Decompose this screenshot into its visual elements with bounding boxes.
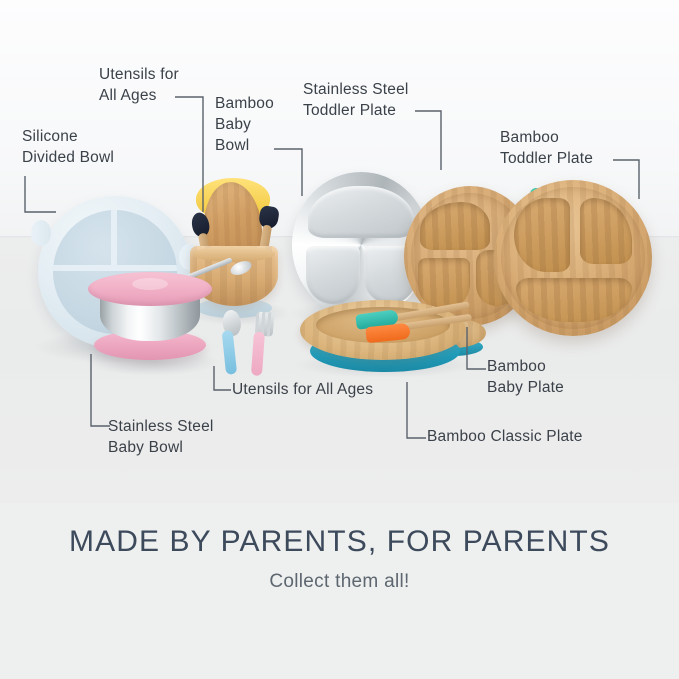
label-silicone-divided-bowl: Silicone Divided Bowl	[22, 126, 114, 168]
label-bamboo-toddler-plate: Bamboo Toddler Plate	[500, 127, 593, 169]
product-bamboo-classic-plate	[300, 300, 466, 372]
bamboo-plate-front-compartment-left	[514, 198, 570, 272]
label-utensils-all-ages-top: Utensils for All Ages	[99, 64, 179, 106]
pink-lid-highlight	[132, 278, 168, 290]
fork-pink-handle	[251, 331, 265, 376]
label-stainless-steel-toddler-plate: Stainless Steel Toddler Plate	[303, 79, 409, 121]
bamboo-baby-bowl-rim	[193, 246, 275, 262]
pink-lid	[88, 272, 212, 306]
label-bamboo-baby-plate: Bamboo Baby Plate	[487, 356, 564, 398]
silicone-divider-vertical	[111, 210, 117, 265]
spoon-blue-handle	[222, 330, 238, 375]
label-bamboo-baby-bowl: Bamboo Baby Bowl	[215, 93, 274, 156]
silicone-bowl-tab-left	[31, 220, 51, 246]
product-bamboo-toddler-plate-front	[494, 180, 652, 336]
stainless-plate-compartment-bottom-left	[306, 246, 360, 304]
label-bamboo-classic-plate: Bamboo Classic Plate	[427, 426, 583, 447]
utensil-fork-pink-handle	[244, 311, 283, 381]
label-utensils-all-ages-bottom: Utensils for All Ages	[232, 379, 373, 400]
page-subheadline: Collect them all!	[0, 571, 679, 593]
product-stainless-steel-baby-bowl	[88, 272, 212, 362]
label-stainless-steel-baby-bowl: Stainless Steel Baby Bowl	[108, 416, 214, 458]
page-headline: MADE BY PARENTS, FOR PARENTS	[0, 525, 679, 559]
product-infographic: Silicone Divided Bowl Utensils for All A…	[0, 0, 679, 679]
silicone-divider-horizontal	[53, 265, 177, 271]
